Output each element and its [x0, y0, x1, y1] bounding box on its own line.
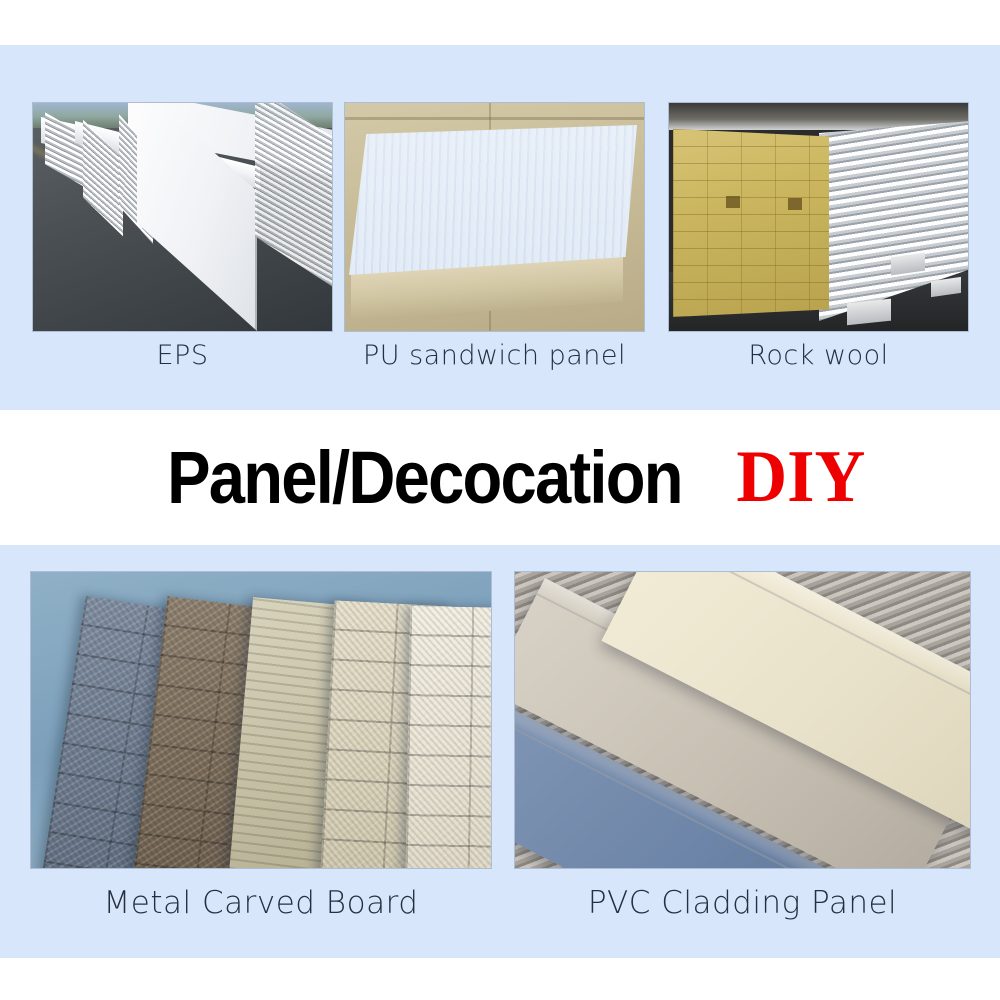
pu-photo-canvas: [345, 103, 644, 331]
photo-rock-wool: [669, 103, 968, 331]
page-title: Panel/Decocation DIY: [0, 412, 1000, 542]
page-title-main: Panel/Decocation: [167, 435, 682, 520]
eps-photo-canvas: [33, 103, 332, 331]
photo-pu-sandwich-panel: [345, 103, 644, 331]
metal-carved-panel-white: [405, 606, 491, 868]
pu-ribbed-top-face: [349, 125, 637, 275]
rock-wool-photo-canvas: [669, 103, 968, 331]
rock-wool-support-block-3: [847, 299, 891, 326]
page-title-accent: DIY: [736, 435, 865, 520]
photo-pvc-cladding-panel: [515, 572, 970, 868]
photo-metal-carved-board: [31, 572, 491, 868]
caption-pu-sandwich-panel: PU sandwich panel: [345, 340, 644, 371]
caption-rock-wool: Rock wool: [669, 340, 968, 371]
panel-stucco-texture: [405, 606, 491, 868]
caption-metal-carved-board: Metal Carved Board: [31, 885, 491, 921]
photo-eps: [33, 103, 332, 331]
rock-wool-mineral-core: [673, 125, 829, 317]
caption-eps: EPS: [33, 340, 332, 371]
metal-carved-photo-canvas: [31, 572, 491, 868]
caption-pvc-cladding-panel: PVC Cladding Panel: [515, 885, 970, 921]
pvc-photo-canvas: [515, 572, 970, 868]
